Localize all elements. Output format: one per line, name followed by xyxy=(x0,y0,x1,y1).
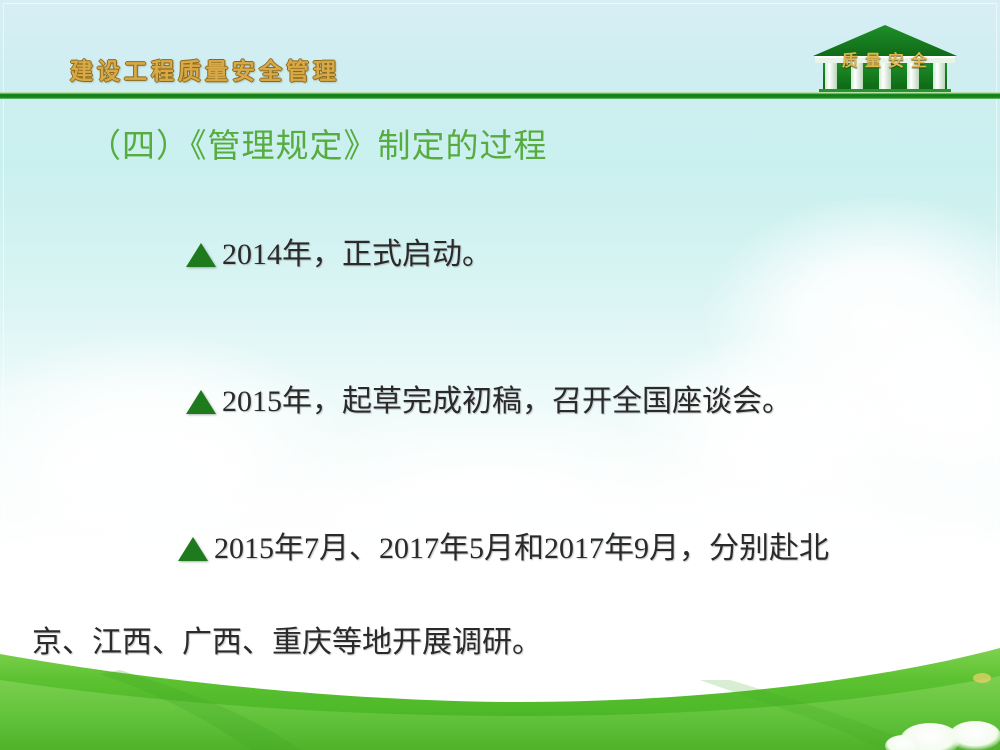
presentation-slide: 建设工程质量安全管理 xyxy=(0,0,1000,750)
triangle-bullet-icon xyxy=(186,390,216,414)
bullet-text-line2: 京、江西、广西、重庆等地开展调研。 xyxy=(32,619,1000,666)
bullet-text-line1: 2014年，正式启动。 xyxy=(222,238,492,271)
bullet-text-line1: 2015年，起草完成初稿，召开全国座谈会。 xyxy=(222,385,792,418)
header-divider-line xyxy=(0,92,1000,99)
bullet-list: 2014年，正式启动。 2015年，起草完成初稿，召开全国座谈会。 2015年7… xyxy=(0,184,1000,750)
bullet-item: 2015年7月、2017年5月和2017年9月，分别赴北 京、江西、广西、重庆等… xyxy=(118,478,1000,750)
bullet-text-line1: 2015年7月、2017年5月和2017年9月，分别赴北 xyxy=(214,532,829,565)
slide-header: 建设工程质量安全管理 xyxy=(0,0,1000,100)
bullet-item: 2014年，正式启动。 xyxy=(126,184,1000,325)
triangle-bullet-icon xyxy=(186,243,216,267)
bullet-item: 2015年，起草完成初稿，召开全国座谈会。 xyxy=(126,331,1000,472)
slide-content: （四）《管理规定》制定的过程 2014年，正式启动。 2015年，起草完成初稿，… xyxy=(0,110,1000,750)
section-title: （四）《管理规定》制定的过程 xyxy=(88,128,1000,168)
triangle-bullet-icon xyxy=(178,537,208,561)
header-title: 建设工程质量安全管理 xyxy=(70,60,340,83)
